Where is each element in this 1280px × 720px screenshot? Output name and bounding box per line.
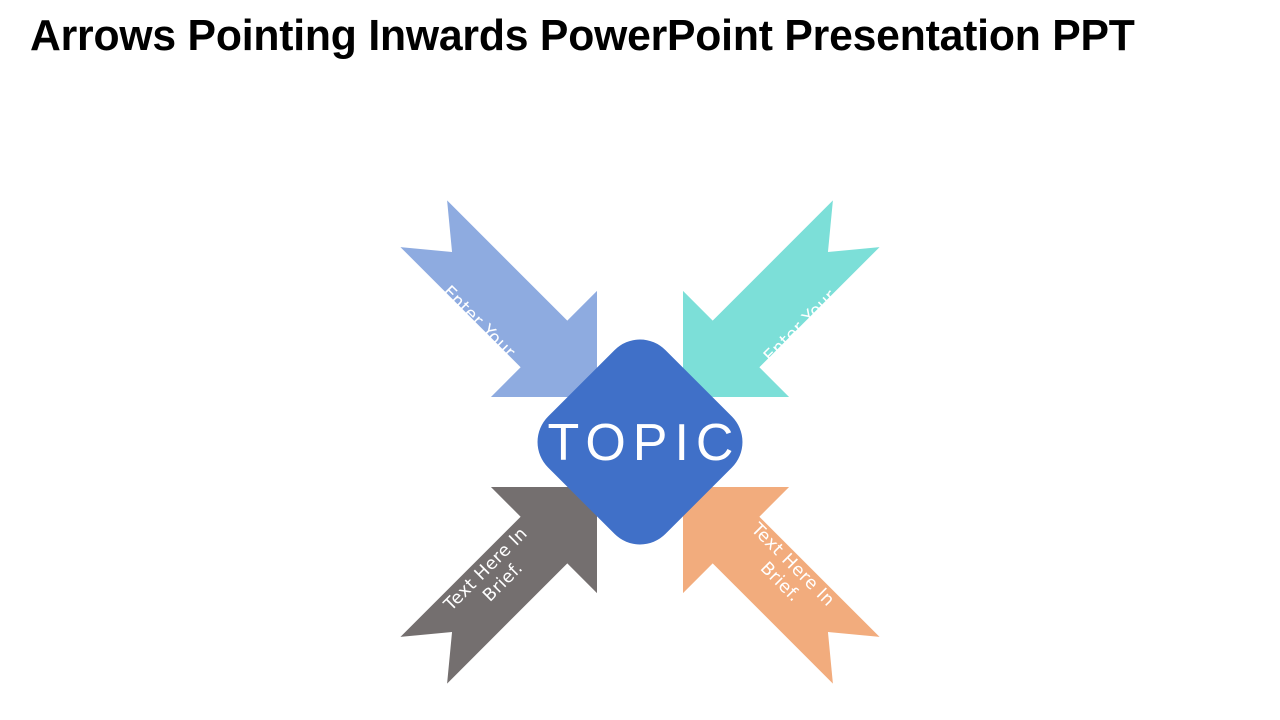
slide-canvas: Arrows Pointing Inwards PowerPoint Prese… [0, 0, 1280, 720]
arrows-inward-diagram: Enter Your Text Here In Brief. Enter You… [0, 64, 1280, 720]
page-title: Arrows Pointing Inwards PowerPoint Prese… [30, 8, 1223, 64]
center-topic-label: TOPIC [548, 414, 741, 472]
